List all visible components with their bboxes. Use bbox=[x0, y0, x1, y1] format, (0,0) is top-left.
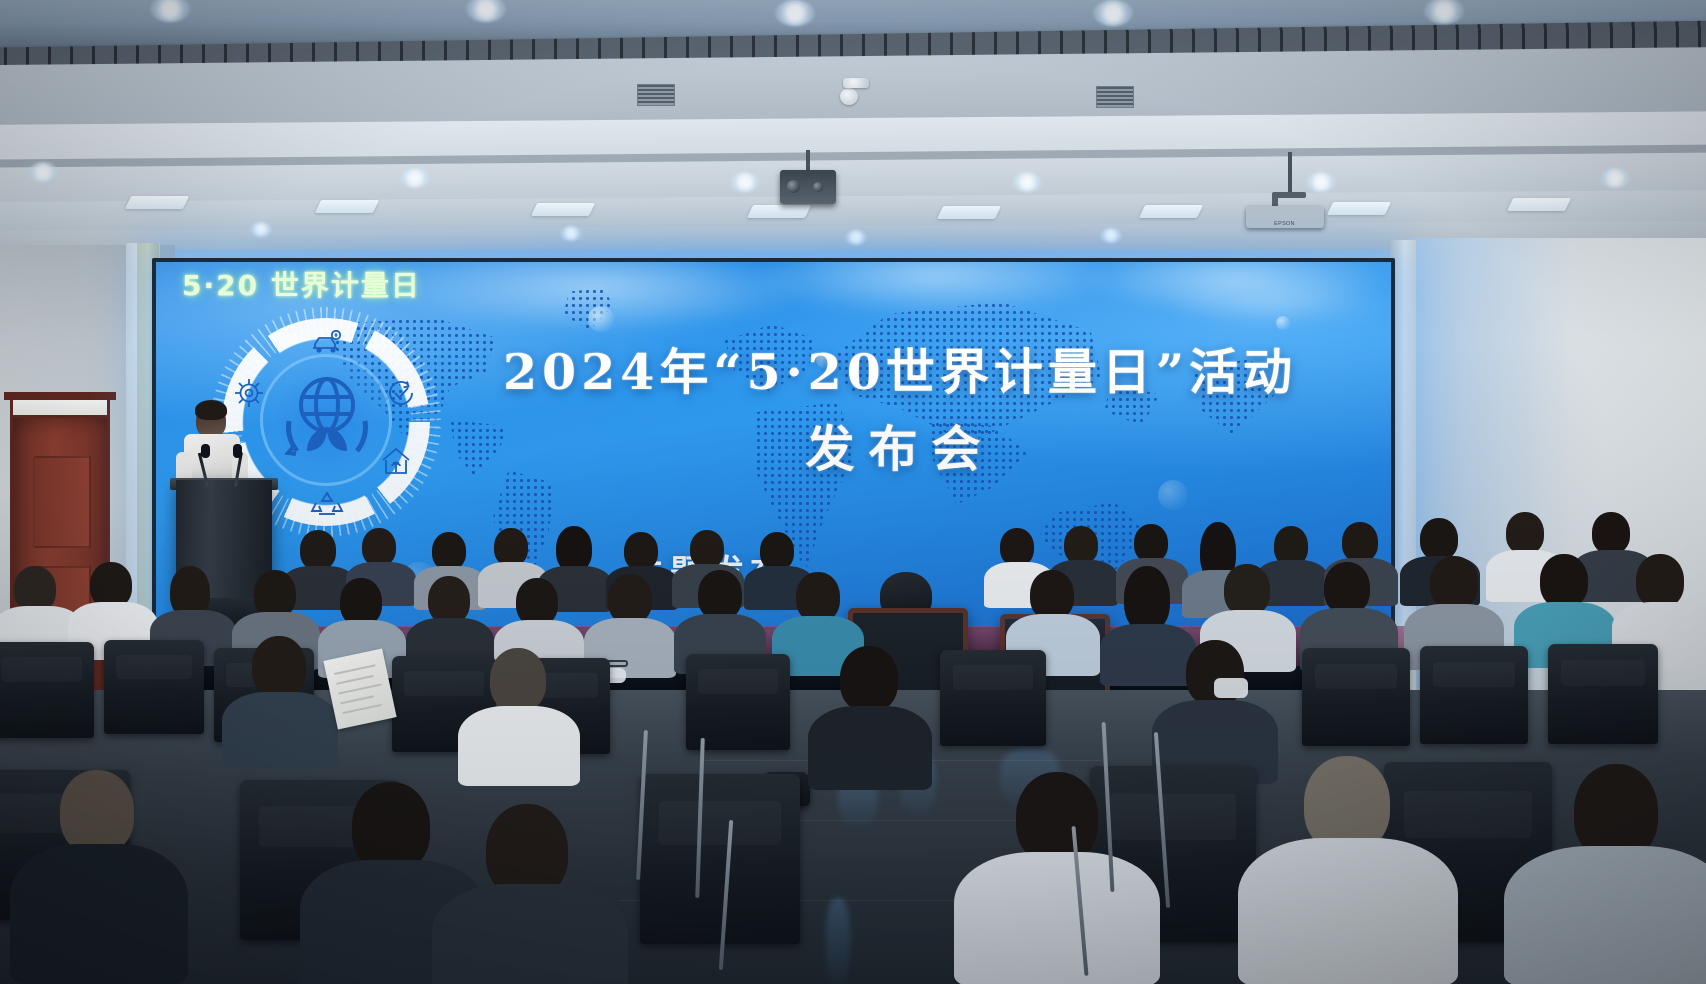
ceiling-light-panel bbox=[747, 205, 811, 218]
attendee-shoulders bbox=[458, 706, 580, 786]
attendee-head bbox=[1342, 522, 1378, 562]
presenter-hair bbox=[195, 400, 227, 420]
ceiling-camera-cluster bbox=[780, 170, 836, 204]
attendee-head bbox=[690, 530, 724, 568]
attendee-head bbox=[1430, 556, 1478, 610]
attendee-shoulders bbox=[10, 844, 188, 984]
attendee-head bbox=[760, 532, 794, 570]
headline-line-1: 2024年“5·20世界计量日”活动 bbox=[470, 340, 1330, 405]
attendee-head bbox=[340, 578, 382, 626]
audience-chair[interactable] bbox=[1548, 644, 1658, 744]
attendee-head bbox=[1506, 512, 1544, 554]
attendee-head bbox=[494, 528, 528, 566]
attendee-head bbox=[60, 770, 134, 854]
attendee-head bbox=[1124, 566, 1170, 632]
attendee-head bbox=[1420, 518, 1458, 560]
screen-headline: 2024年“5·20世界计量日”活动 发布会 bbox=[470, 340, 1330, 481]
attendee-head bbox=[362, 528, 396, 566]
ceiling-light-panel bbox=[531, 203, 595, 216]
ceiling-downlight bbox=[1306, 172, 1336, 192]
ceiling-mount-pole bbox=[806, 150, 810, 172]
ceiling-downlight bbox=[560, 226, 582, 241]
projector-brand-label: EPSON bbox=[1275, 221, 1296, 226]
audience-chair[interactable] bbox=[104, 640, 204, 734]
ceiling-light-panel bbox=[1507, 198, 1571, 211]
camera-lens-icon bbox=[787, 180, 800, 193]
attendee-head bbox=[300, 530, 336, 570]
event-logo-text: 5·20 世界计量日 bbox=[182, 264, 421, 304]
attendee-head bbox=[432, 532, 466, 570]
attendee-shoulders bbox=[432, 884, 628, 984]
attendee-head bbox=[840, 646, 898, 712]
ceiling-light-panel bbox=[937, 206, 1001, 219]
attendee-head bbox=[1324, 562, 1370, 614]
ceiling-downlight bbox=[845, 230, 867, 245]
ceiling-downlight bbox=[1012, 172, 1042, 192]
screen-bokeh-dot bbox=[1276, 316, 1290, 330]
projector-mount-pole bbox=[1288, 152, 1292, 194]
attendee-shoulders bbox=[1504, 846, 1706, 984]
attendee-head bbox=[1064, 526, 1098, 564]
microphone-head bbox=[201, 444, 210, 458]
attendee-shoulders bbox=[1238, 838, 1458, 984]
attendee-head bbox=[1016, 772, 1098, 864]
attendee-head bbox=[490, 648, 546, 712]
ceiling-projector: EPSON bbox=[1246, 206, 1324, 228]
attendee-head bbox=[698, 570, 742, 620]
ceiling-light-panel bbox=[1327, 202, 1391, 215]
air-vent bbox=[637, 84, 675, 106]
ceiling-downlight bbox=[250, 222, 272, 237]
attendee-head bbox=[1636, 554, 1684, 608]
face-mask bbox=[1214, 678, 1248, 698]
ceiling-light-panel bbox=[1139, 205, 1203, 218]
air-vent bbox=[1096, 86, 1134, 108]
smoke-detector bbox=[840, 88, 858, 105]
attendee-shoulders bbox=[1100, 624, 1196, 686]
audience-chair[interactable] bbox=[1420, 646, 1528, 744]
audience-chair[interactable] bbox=[940, 650, 1046, 746]
audience-chair[interactable] bbox=[0, 642, 94, 738]
ceiling-downlight bbox=[1100, 228, 1122, 243]
audience-chair[interactable] bbox=[686, 654, 790, 750]
ceiling-light-panel bbox=[125, 196, 189, 209]
attendee-head bbox=[1540, 554, 1588, 608]
camera-lens-icon bbox=[813, 182, 823, 192]
smoke-detector bbox=[843, 78, 869, 88]
ceiling-downlight bbox=[400, 168, 430, 188]
microphone-head bbox=[233, 444, 242, 458]
ceiling-downlight bbox=[1093, 0, 1133, 26]
attendee-head bbox=[1592, 512, 1630, 554]
attendee-shoulders bbox=[808, 706, 932, 790]
attendee-head bbox=[252, 636, 306, 698]
attendee-head bbox=[428, 576, 470, 624]
conference-hall-photo: EPSON bbox=[0, 0, 1706, 984]
attendee-shoulders bbox=[222, 692, 338, 768]
attendee-head bbox=[608, 574, 652, 624]
ceiling-downlight bbox=[730, 172, 760, 192]
attendee-head bbox=[254, 570, 296, 618]
attendee-head bbox=[796, 572, 840, 622]
attendee-shoulders bbox=[954, 852, 1160, 984]
ceiling-downlight bbox=[775, 0, 815, 26]
ceiling-downlight bbox=[28, 162, 58, 182]
screen-bokeh-dot bbox=[588, 306, 614, 332]
globe-leaf-icon bbox=[260, 354, 392, 486]
attendee-head bbox=[624, 532, 658, 570]
attendee-head bbox=[352, 782, 430, 872]
attendee-head bbox=[1224, 564, 1270, 616]
audience-chair[interactable] bbox=[640, 774, 800, 944]
attendee-head bbox=[516, 578, 558, 626]
audience-chair[interactable] bbox=[1302, 648, 1410, 746]
attendee-head bbox=[1000, 528, 1034, 566]
attendee-head bbox=[1134, 524, 1168, 562]
attendee-head bbox=[1030, 570, 1074, 620]
ceiling-light-panel bbox=[315, 200, 379, 213]
ceiling-downlight bbox=[1600, 168, 1630, 188]
audience-area bbox=[0, 470, 1706, 984]
